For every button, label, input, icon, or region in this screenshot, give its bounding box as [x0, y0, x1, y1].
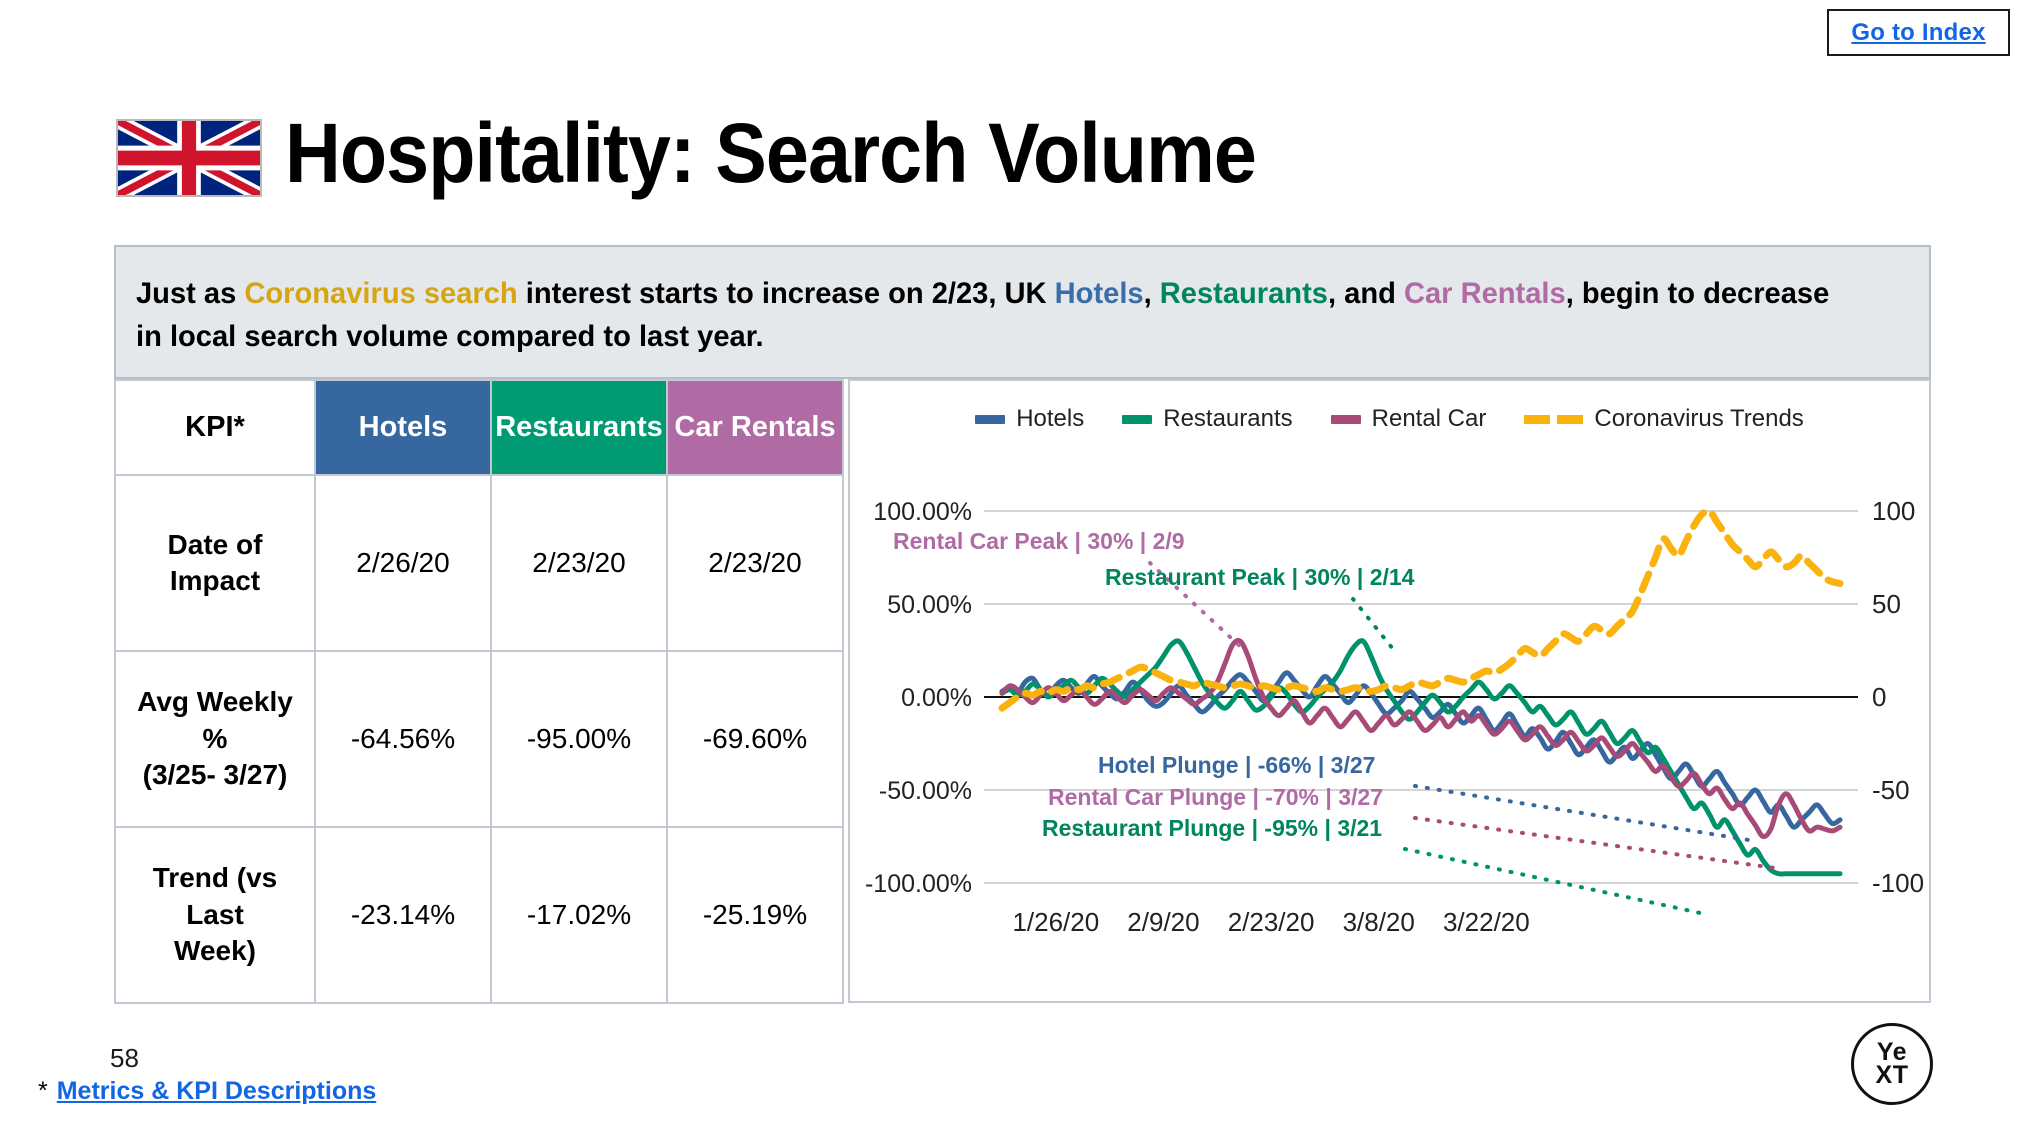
chart-svg: 100.00%10050.00%500.00%0-50.00%-50-100.0… — [850, 381, 1929, 1001]
x-axis-tick: 1/26/20 — [1012, 907, 1099, 937]
callout-sep1: , — [1144, 277, 1160, 310]
slide-root: Go to Index Hospitality: Search Volume J… — [0, 0, 2017, 1129]
y-axis-left-tick: -50.00% — [879, 777, 972, 805]
row-label-line1: Trend (vs Last — [124, 860, 306, 933]
row-label-line1: Avg Weekly % — [124, 684, 306, 757]
search-volume-chart: Hotels Restaurants Rental Car Coronaviru… — [848, 379, 1931, 1003]
cell-date-hotels: 2/26/20 — [315, 475, 491, 651]
x-axis-tick: 3/22/20 — [1443, 907, 1530, 937]
metrics-kpi-descriptions-link[interactable]: Metrics & KPI Descriptions — [57, 1077, 377, 1106]
callout-hotels: Hotels — [1055, 277, 1144, 310]
annotation-rental-car-peak: Rental Car Peak | 30% | 2/9 — [893, 528, 1185, 555]
annotation-leader-line — [1415, 786, 1755, 841]
annotation-restaurant-plunge: Restaurant Plunge | -95% | 3/21 — [1042, 815, 1382, 842]
cell-avg-hotels: -64.56% — [315, 651, 491, 827]
y-axis-right-tick: 0 — [1872, 682, 1886, 712]
x-axis-tick: 2/23/20 — [1228, 907, 1315, 937]
table-row: Date of Impact 2/26/20 2/23/20 2/23/20 — [115, 475, 843, 651]
chart-plot-area: 100.00%10050.00%500.00%0-50.00%-50-100.0… — [850, 381, 1929, 1001]
uk-flag-icon — [116, 119, 262, 197]
row-label-date-of-impact: Date of Impact — [115, 475, 315, 651]
y-axis-left-tick: 0.00% — [901, 684, 972, 712]
table-header-kpi: KPI* — [115, 380, 315, 475]
y-axis-right-tick: 100 — [1872, 496, 1915, 526]
kpi-table: KPI* Hotels Restaurants Car Rentals Date… — [114, 379, 844, 1004]
table-header-row: KPI* Hotels Restaurants Car Rentals — [115, 380, 843, 475]
callout-text: Just as Coronavirus search interest star… — [136, 273, 1856, 358]
y-axis-left-tick: 100.00% — [873, 498, 972, 526]
callout-part2: interest starts to increase on 2/23, UK — [518, 277, 1055, 310]
annotation-restaurant-peak: Restaurant Peak | 30% | 2/14 — [1105, 564, 1414, 591]
y-axis-right-tick: 50 — [1872, 589, 1901, 619]
page-number: 58 — [110, 1043, 139, 1074]
y-axis-left-tick: -100.00% — [865, 870, 972, 898]
table-header-car-rentals: Car Rentals — [667, 380, 843, 475]
cell-date-carrentals: 2/23/20 — [667, 475, 843, 651]
callout-carrentals: Car Rentals — [1404, 277, 1566, 310]
cell-avg-carrentals: -69.60% — [667, 651, 843, 827]
row-label-avg-weekly: Avg Weekly % (3/25- 3/27) — [115, 651, 315, 827]
table-row: Trend (vs Last Week) -23.14% -17.02% -25… — [115, 827, 843, 1003]
callout-sep2: , and — [1328, 277, 1404, 310]
row-label-trend: Trend (vs Last Week) — [115, 827, 315, 1003]
x-axis-tick: 2/9/20 — [1127, 907, 1199, 937]
yext-logo-line2: XT — [1876, 1064, 1909, 1087]
cell-trend-hotels: -23.14% — [315, 827, 491, 1003]
row-label-line2: (3/25- 3/27) — [124, 757, 306, 793]
cell-trend-restaurants: -17.02% — [491, 827, 667, 1003]
callout-coronavirus: Coronavirus search — [244, 277, 517, 310]
annotation-hotel-plunge: Hotel Plunge | -66% | 3/27 — [1098, 752, 1375, 779]
cell-trend-carrentals: -25.19% — [667, 827, 843, 1003]
callout-part1: Just as — [136, 277, 244, 310]
footnote-asterisk: * — [38, 1077, 48, 1106]
y-axis-right-tick: -50 — [1872, 775, 1910, 805]
cell-avg-restaurants: -95.00% — [491, 651, 667, 827]
row-label-line2: Week) — [124, 933, 306, 969]
y-axis-left-tick: 50.00% — [887, 591, 972, 619]
callout-restaurants: Restaurants — [1160, 277, 1328, 310]
table-header-hotels: Hotels — [315, 380, 491, 475]
go-to-index-label: Go to Index — [1851, 19, 1985, 47]
footnote: * Metrics & KPI Descriptions — [38, 1077, 376, 1106]
table-header-restaurants: Restaurants — [491, 380, 667, 475]
yext-logo: Ye XT — [1851, 1023, 1933, 1105]
cell-date-restaurants: 2/23/20 — [491, 475, 667, 651]
table-row: Avg Weekly % (3/25- 3/27) -64.56% -95.00… — [115, 651, 843, 827]
page-title: Hospitality: Search Volume — [285, 105, 1256, 202]
go-to-index-button[interactable]: Go to Index — [1827, 9, 2010, 56]
annotation-rental-car-plunge: Rental Car Plunge | -70% | 3/27 — [1048, 784, 1383, 811]
y-axis-right-tick: -100 — [1872, 868, 1924, 898]
annotation-leader-line — [1405, 849, 1705, 914]
callout-box: Just as Coronavirus search interest star… — [114, 245, 1931, 379]
x-axis-tick: 3/8/20 — [1343, 907, 1415, 937]
